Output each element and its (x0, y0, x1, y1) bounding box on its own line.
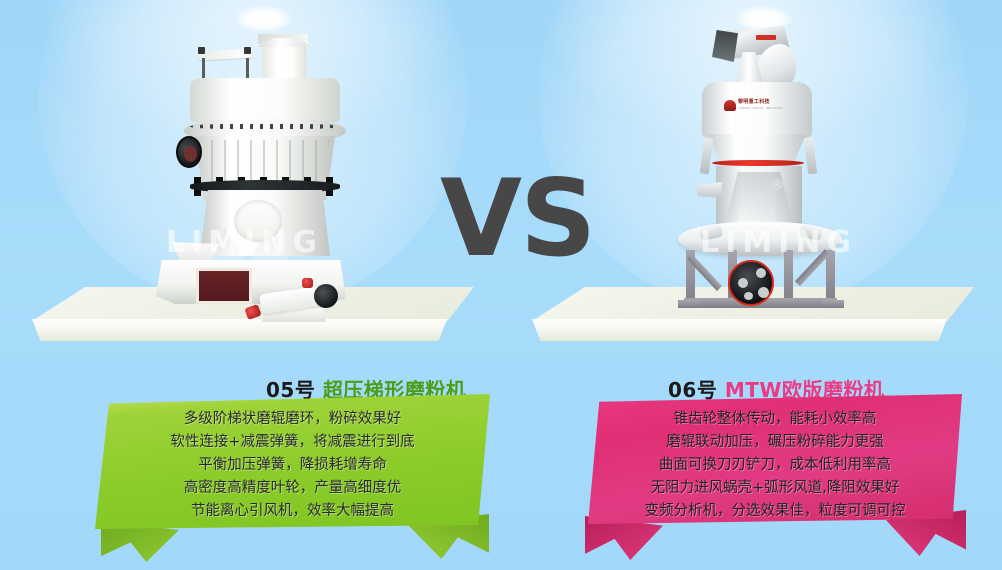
left-machine-image (150, 28, 370, 313)
left-feature-list: 多级阶梯状磨辊磨环，粉碎效果好 软性连接+减震弹簧，将减震进行到底 平衡加压弹簧… (95, 408, 490, 523)
vs-label: VS (440, 166, 594, 272)
right-feature-banner: 锥齿轮整体传动，能耗小效率高 磨辊联动加压，碾压粉碎能力更强 曲面可换刀刃铲刀，… (588, 394, 962, 524)
liming-logo-icon (724, 100, 736, 111)
list-item: 节能离心引风机，效率大幅提高 (95, 500, 490, 523)
list-item: 多级阶梯状磨辊磨环，粉碎效果好 (95, 408, 490, 431)
right-machine-classifier-drum (702, 82, 812, 138)
left-machine-bolt-row (190, 124, 340, 129)
flywheel-hole (744, 292, 753, 300)
list-item: 变频分析机，分选效果佳，粒度可调可控 (588, 500, 962, 523)
list-item: 平衡加压弹簧，降损耗增寿命 (95, 454, 490, 477)
flywheel-hole (756, 268, 766, 278)
flywheel-hole (738, 278, 748, 288)
left-machine-handwheel-hub (184, 146, 197, 162)
left-machine-motor-pulley (314, 284, 338, 308)
list-item: 无阻力进风蜗壳+弧形风道,降阻效果好 (588, 477, 962, 500)
right-machine-image: 黎明重工科技 LIMING HEAVY INDUSTRY (660, 22, 860, 322)
right-machine-drive-block (712, 30, 738, 62)
left-machine-bolt (198, 47, 205, 54)
flywheel-hole (758, 287, 769, 298)
left-feature-banner: 多级阶梯状磨辊磨环，粉碎效果好 软性连接+减震弹簧，将减震进行到底 平衡加压弹簧… (95, 394, 490, 529)
right-machine-logo-text: 黎明重工科技 (738, 100, 770, 105)
left-machine-rail-post (246, 58, 249, 80)
list-item: 锥齿轮整体传动，能耗小效率高 (588, 408, 962, 431)
frame-footer-pad (822, 300, 844, 308)
left-machine-air-duct (196, 268, 252, 304)
left-machine-inspection-door (234, 200, 282, 242)
comparison-poster: LIMING 黎明重工科技 LIMING HEAVY INDUSTRY (0, 0, 1002, 570)
left-machine-handwheel (176, 136, 202, 168)
list-item: 高密度高精度叶轮，产量高细度优 (95, 477, 490, 500)
right-machine-red-marker (756, 35, 776, 40)
list-item: 曲面可换刀刃铲刀，成本低利用率高 (588, 454, 962, 477)
list-item: 磨辊联动加压，碾压粉碎能力更强 (588, 431, 962, 454)
right-machine-arm (700, 138, 713, 175)
right-machine-arm (804, 138, 817, 175)
left-machine-bolt (244, 47, 251, 54)
left-machine-red-cap (302, 278, 313, 288)
left-platform-edge (32, 319, 447, 341)
right-machine-flywheel (728, 260, 774, 306)
left-machine-rail-post (202, 58, 205, 80)
right-feature-list: 锥齿轮整体传动，能耗小效率高 磨辊联动加压，碾压粉碎能力更强 曲面可换刀刃铲刀，… (588, 408, 962, 523)
right-machine-feed-spout (696, 182, 722, 198)
registered-mark-icon: ® (771, 178, 784, 193)
right-machine-logo-subtext: LIMING HEAVY INDUSTRY (738, 107, 784, 110)
frame-footer-pad (678, 300, 700, 308)
right-platform-edge (532, 319, 947, 341)
frame-brace (795, 249, 830, 286)
left-machine-upper-shell (190, 78, 340, 122)
list-item: 软性连接+减震弹簧，将减震进行到底 (95, 431, 490, 454)
